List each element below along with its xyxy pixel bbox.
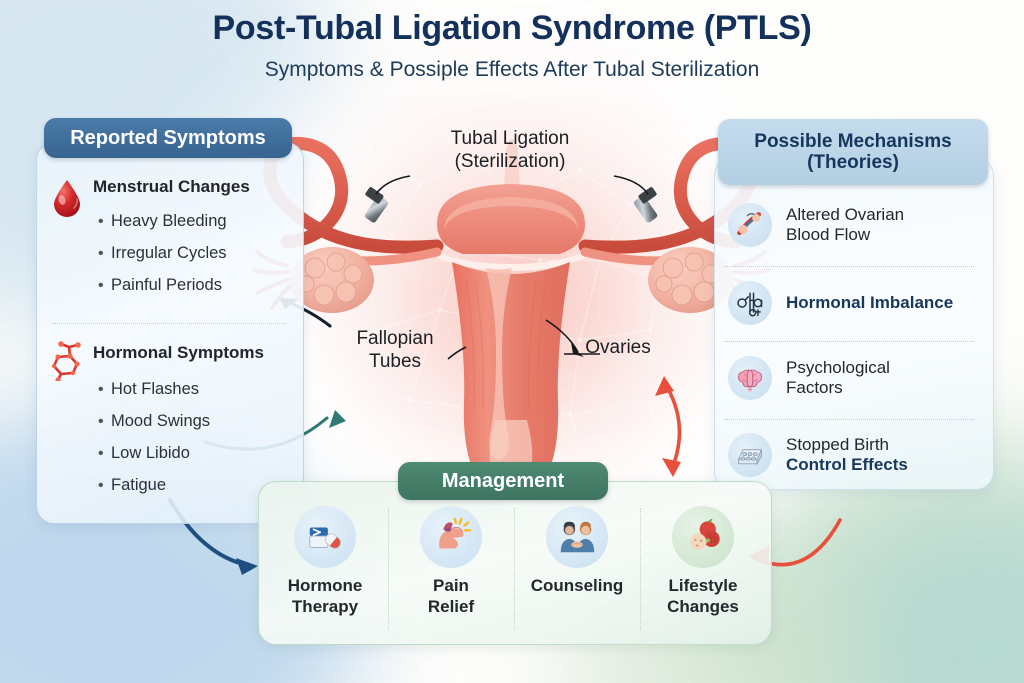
list-item: •Mood Swings <box>98 413 210 430</box>
counseling-people-icon <box>546 506 608 568</box>
management-badge: Management <box>398 462 608 500</box>
symptom-group-divider <box>52 323 286 324</box>
mechanism-line1: Stopped Birth <box>786 435 908 455</box>
header: Post-Tubal Ligation Syndrome (PTLS) Symp… <box>0 10 1024 83</box>
infographic-canvas: Tubal Ligation (Sterilization) Fallopian… <box>0 0 1024 683</box>
list-item: •Heavy Bleeding <box>98 213 227 230</box>
management-line2: Therapy <box>288 597 363 618</box>
possible-mechanisms-badge-line2: (Theories) <box>807 152 899 173</box>
symptom-group-heading-hormonal: Hormonal Symptoms <box>93 343 264 363</box>
possible-mechanisms-badge-line1: Possible Mechanisms <box>754 131 951 152</box>
reported-symptoms-badge: Reported Symptoms <box>44 118 292 158</box>
list-item: •Hot Flashes <box>98 381 210 398</box>
management-label-lifestyle-changes: Lifestyle Changes <box>667 576 739 617</box>
symptom-item-label: Heavy Bleeding <box>111 212 227 230</box>
management-label-counseling: Counseling <box>531 576 624 597</box>
label-tubal-ligation-line1: Tubal Ligation <box>400 127 620 150</box>
management-line2: Changes <box>667 597 739 618</box>
blood-drop-icon <box>50 178 84 218</box>
management-item-counseling[interactable]: Counseling <box>514 500 640 640</box>
hormone-molecule-icon <box>48 337 86 381</box>
pill-blister-pack-icon <box>728 433 772 477</box>
mechanism-row-stopped-birth-control[interactable]: Stopped Birth Control Effects <box>714 433 908 477</box>
list-item: •Fatigue <box>98 477 210 494</box>
label-ovaries-text: Ovaries <box>566 336 670 359</box>
management-badge-label: Management <box>442 470 564 492</box>
page-title: Post-Tubal Ligation Syndrome (PTLS) <box>0 10 1024 47</box>
list-item: •Low Libido <box>98 445 210 462</box>
symptom-list-menstrual: •Heavy Bleeding •Irregular Cycles •Painf… <box>98 213 227 309</box>
symptom-list-hormonal: •Hot Flashes •Mood Swings •Low Libido •F… <box>98 381 210 509</box>
management-items: Hormone Therapy Pain Relief <box>262 500 766 640</box>
page-subtitle: Symptoms & Possiple Effects After Tubal … <box>0 57 1024 82</box>
reported-symptoms-badge-label: Reported Symptoms <box>70 127 266 149</box>
mechanism-divider <box>724 341 974 342</box>
management-label-hormone-therapy: Hormone Therapy <box>288 576 363 617</box>
list-item: •Irregular Cycles <box>98 245 227 262</box>
mechanism-label-blood-flow: Altered Ovarian Blood Flow <box>786 205 904 245</box>
management-line1: Pain <box>428 576 474 597</box>
management-label-pain-relief: Pain Relief <box>428 576 474 617</box>
label-ovaries: Ovaries <box>566 336 670 359</box>
mechanism-line2: Factors <box>786 378 890 398</box>
ovary-blood-vessel-icon <box>728 203 772 247</box>
symptom-item-label: Mood Swings <box>111 412 210 430</box>
symptom-item-label: Painful Periods <box>111 276 222 294</box>
possible-mechanisms-badge: Possible Mechanisms (Theories) <box>718 119 988 185</box>
mechanism-line2: Blood Flow <box>786 225 904 245</box>
mechanism-label-psychological: Psychological Factors <box>786 358 890 398</box>
mechanism-line2-emphasis: Control Effects <box>786 455 908 474</box>
management-line1: Counseling <box>531 576 624 597</box>
list-item: •Painful Periods <box>98 277 227 294</box>
label-fallopian-tubes: Fallopian Tubes <box>335 327 455 373</box>
mechanism-divider <box>724 266 974 267</box>
management-item-pain-relief[interactable]: Pain Relief <box>388 500 514 640</box>
mechanism-row-psychological[interactable]: Psychological Factors <box>714 356 890 400</box>
mechanism-row-blood-flow[interactable]: Altered Ovarian Blood Flow <box>714 203 904 247</box>
hormone-structure-icon <box>728 281 772 325</box>
mechanism-line1: Hormonal Imbalance <box>786 293 953 313</box>
healthy-food-icon <box>672 506 734 568</box>
mechanism-label-stopped-birth-control: Stopped Birth Control Effects <box>786 435 908 475</box>
management-line1: Hormone <box>288 576 363 597</box>
mechanism-label-hormonal-imbalance: Hormonal Imbalance <box>786 293 953 313</box>
label-tubal-ligation-line2: (Sterilization) <box>400 150 620 173</box>
pain-relief-arm-icon <box>420 506 482 568</box>
mechanism-line2: Control Effects <box>786 455 908 475</box>
management-line2: Relief <box>428 597 474 618</box>
label-tubal-ligation: Tubal Ligation (Sterilization) <box>400 127 620 173</box>
symptom-item-label: Fatigue <box>111 476 166 494</box>
brain-icon <box>728 356 772 400</box>
mechanism-line1: Psychological <box>786 358 890 378</box>
label-fallopian-line1: Fallopian <box>335 327 455 350</box>
management-line1: Lifestyle <box>667 576 739 597</box>
management-item-hormone-therapy[interactable]: Hormone Therapy <box>262 500 388 640</box>
symptom-item-label: Irregular Cycles <box>111 244 227 262</box>
symptom-group-heading-menstrual: Menstrual Changes <box>93 177 250 197</box>
mechanism-divider <box>724 419 974 420</box>
symptom-item-label: Low Libido <box>111 444 190 462</box>
management-item-lifestyle-changes[interactable]: Lifestyle Changes <box>640 500 766 640</box>
pill-capsule-icon <box>294 506 356 568</box>
mechanism-line1: Altered Ovarian <box>786 205 904 225</box>
mechanism-row-hormonal-imbalance[interactable]: Hormonal Imbalance <box>714 281 953 325</box>
label-fallopian-line2: Tubes <box>335 350 455 373</box>
symptom-item-label: Hot Flashes <box>111 380 199 398</box>
